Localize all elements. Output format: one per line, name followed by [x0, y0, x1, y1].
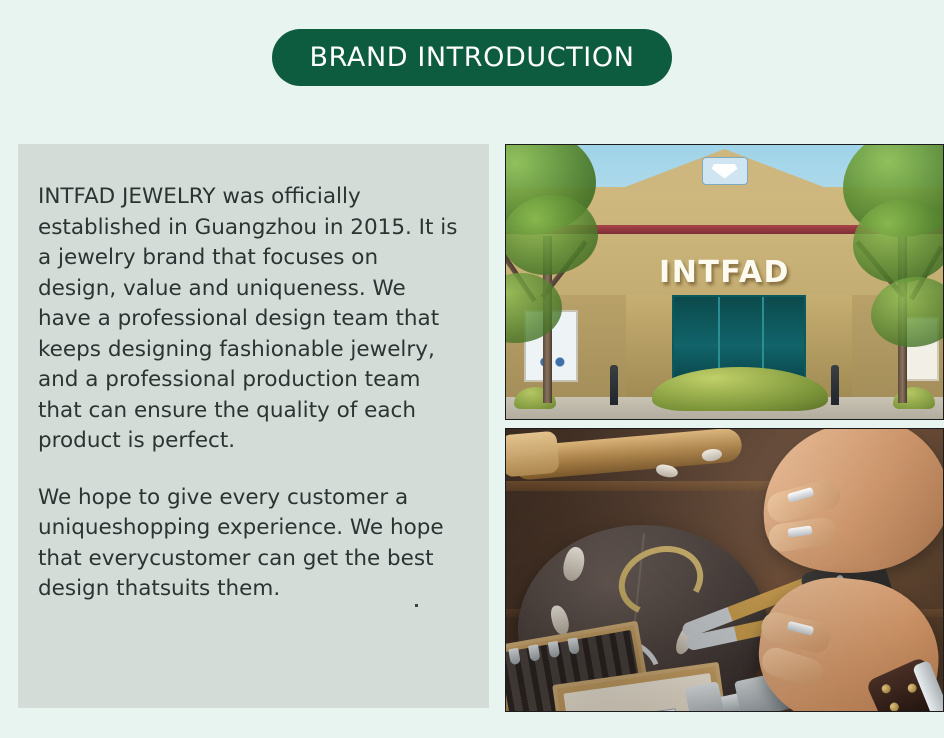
panel-speck-artifact [415, 604, 418, 607]
image-column: INTFAD [505, 144, 944, 712]
wristband-stud [906, 682, 918, 694]
banner-container: BRAND INTRODUCTION [0, 29, 944, 86]
mallet-head [506, 431, 560, 478]
brand-paragraph-2: We hope to give every customer a uniques… [38, 483, 463, 605]
store-facade: INTFAD [506, 187, 943, 295]
bollard-left [610, 365, 618, 405]
storefront-photo: INTFAD [505, 144, 944, 420]
workbench-scene [506, 429, 943, 711]
diamond-logo-icon [702, 157, 748, 185]
brand-description-panel: INTFAD JEWELRY was officially establishe… [18, 144, 489, 708]
poster-artwork [534, 334, 570, 374]
storefront-scene: INTFAD [506, 145, 943, 419]
banner-title: BRAND INTRODUCTION [309, 42, 634, 73]
workbench-photo [505, 428, 944, 712]
bollard-right [831, 365, 839, 405]
wristband-stud [880, 683, 892, 695]
gem-icon [712, 164, 738, 179]
brand-introduction-banner: BRAND INTRODUCTION [272, 29, 672, 86]
store-red-band [506, 225, 943, 234]
brand-paragraph-1: INTFAD JEWELRY was officially establishe… [38, 182, 463, 457]
store-poster-left [524, 310, 578, 382]
store-poster-right [899, 317, 939, 381]
finger [764, 476, 843, 525]
wristband-stud [888, 701, 900, 711]
jeweler-hand-upper [749, 429, 943, 588]
store-sign-text: INTFAD [506, 255, 943, 290]
box-card [612, 709, 681, 711]
